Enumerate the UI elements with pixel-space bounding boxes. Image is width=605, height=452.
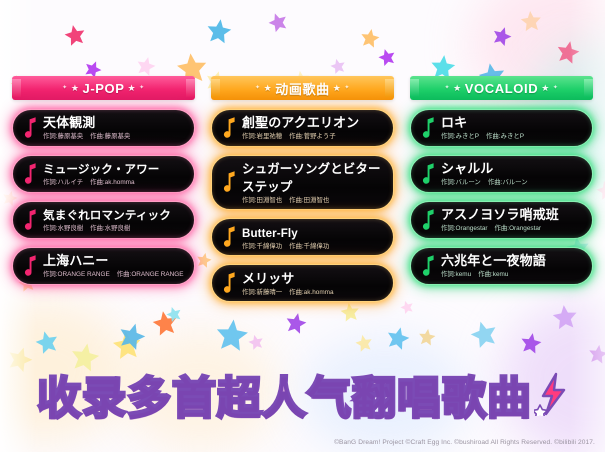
song-card[interactable]: 天体観測作詞:藤原基央作曲:藤原基央	[12, 109, 195, 147]
music-credit: 作曲:菅野よう子	[289, 133, 336, 140]
copyright-text: ©BanG Dream! Project ©Craft Egg Inc. ©bu…	[334, 439, 595, 446]
music-credit: 作曲:ORANGE RANGE	[117, 271, 184, 278]
category-label: J-POP	[82, 81, 124, 96]
song-title: ロキ	[441, 115, 467, 130]
song-text: シャルル作詞:バルーン作曲:バルーン	[441, 160, 583, 186]
ribbon-tail-right	[385, 79, 394, 97]
lyrics-credit: 作詞:千綿偉功	[242, 243, 282, 250]
lightning-note-icon	[534, 372, 568, 416]
song-credits: 作詞:水野良樹作曲:水野良樹	[43, 225, 185, 232]
lyrics-credit: 作詞:岩里祐穂	[242, 133, 282, 140]
category-label-wrap: ✦★动画歌曲★✦	[255, 79, 350, 98]
song-credits: 作詞:Orangestar作曲:Orangestar	[441, 225, 583, 232]
music-note-icon	[421, 116, 437, 140]
music-credit: 作曲:田淵智也	[289, 197, 329, 204]
song-text: ロキ作詞:みきとP作曲:みきとP	[441, 114, 583, 140]
song-card[interactable]: ミュージック・アワー作詞:ハルイチ作曲:ak.homma	[12, 155, 195, 193]
song-card[interactable]: 上海ハニー作詞:ORANGE RANGE作曲:ORANGE RANGE	[12, 247, 195, 285]
category-header-vocaloid: ✦★VOCALOID★✦	[410, 76, 593, 100]
music-note-icon	[421, 254, 437, 278]
headline-banner: 收录多首超人气翻唱歌曲	[0, 366, 605, 422]
star-icon: ★	[128, 84, 137, 93]
song-text: 天体観測作詞:藤原基央作曲:藤原基央	[43, 114, 185, 140]
song-title: 天体観測	[43, 115, 95, 130]
song-title: シュガーソングとビターステップ	[242, 162, 381, 194]
sparkle-icon: ✦	[553, 85, 559, 91]
lyrics-credit: 作詞:みきとP	[441, 133, 479, 140]
category-label-wrap: ✦★VOCALOID★✦	[444, 81, 558, 96]
music-credit: 作曲:藤原基央	[90, 133, 130, 140]
music-credit: 作曲:千綿偉功	[289, 243, 329, 250]
star-icon: ★	[453, 84, 462, 93]
song-text: アスノヨソラ哨戒班作詞:Orangestar作曲:Orangestar	[441, 206, 583, 232]
music-note-icon	[23, 208, 39, 232]
sparkle-icon: ✦	[444, 85, 450, 91]
lyrics-credit: 作詞:新藤晴一	[242, 289, 282, 296]
song-credits: 作詞:藤原基央作曲:藤原基央	[43, 133, 185, 140]
ribbon-tail-right	[186, 79, 195, 97]
song-card[interactable]: 気まぐれロマンティック作詞:水野良樹作曲:水野良樹	[12, 201, 195, 239]
ribbon-tail-left	[211, 79, 220, 97]
lyrics-credit: 作詞:田淵智也	[242, 197, 282, 204]
song-credits: 作詞:岩里祐穂作曲:菅野よう子	[242, 133, 384, 140]
music-credit: 作曲:水野良樹	[90, 225, 130, 232]
song-text: メリッサ作詞:新藤晴一作曲:ak.homma	[242, 270, 384, 296]
lyrics-credit: 作詞:藤原基央	[43, 133, 83, 140]
song-title: Butter-Fly	[242, 227, 298, 240]
ribbon-tail-left	[410, 79, 419, 97]
music-note-icon	[23, 116, 39, 140]
song-card[interactable]: メリッサ作詞:新藤晴一作曲:ak.homma	[211, 264, 394, 302]
category-column-vocaloid: ✦★VOCALOID★✦ロキ作詞:みきとP作曲:みきとPシャルル作詞:バルーン作…	[410, 76, 593, 285]
lyrics-credit: 作詞:水野良樹	[43, 225, 83, 232]
sparkle-icon: ✦	[344, 85, 350, 91]
song-card[interactable]: アスノヨソラ哨戒班作詞:Orangestar作曲:Orangestar	[410, 201, 593, 239]
song-list-vocaloid: ロキ作詞:みきとP作曲:みきとPシャルル作詞:バルーン作曲:バルーンアスノヨソラ…	[410, 109, 593, 285]
star-icon: ★	[71, 84, 80, 93]
category-label-wrap: ✦★J-POP★✦	[62, 81, 145, 96]
music-note-icon	[222, 116, 238, 140]
lyrics-credit: 作詞:kemu	[441, 271, 471, 278]
music-credit: 作曲:Orangestar	[495, 225, 542, 232]
song-title: ミュージック・アワー	[43, 163, 159, 176]
song-title: シャルル	[441, 161, 493, 176]
song-text: 創聖のアクエリオン作詞:岩里祐穂作曲:菅野よう子	[242, 114, 384, 140]
category-label: VOCALOID	[465, 81, 538, 96]
ribbon-tail-left	[12, 79, 21, 97]
lyrics-credit: 作詞:バルーン	[441, 179, 481, 186]
star-icon: ★	[541, 84, 550, 93]
sparkle-icon: ✦	[255, 85, 261, 91]
music-note-icon	[222, 225, 238, 249]
song-text: 気まぐれロマンティック作詞:水野良樹作曲:水野良樹	[43, 206, 185, 232]
song-text: ミュージック・アワー作詞:ハルイチ作曲:ak.homma	[43, 160, 185, 186]
music-credit: 作曲:ak.homma	[90, 179, 134, 186]
category-column-jpop: ✦★J-POP★✦天体観測作詞:藤原基央作曲:藤原基央ミュージック・アワー作詞:…	[12, 76, 195, 285]
song-credits: 作詞:新藤晴一作曲:ak.homma	[242, 289, 384, 296]
sparkle-icon: ✦	[139, 85, 145, 91]
song-card[interactable]: シュガーソングとビターステップ作詞:田淵智也作曲:田淵智也	[211, 155, 394, 210]
headline-text: 收录多首超人气翻唱歌曲	[37, 362, 532, 426]
category-header-anime: ✦★动画歌曲★✦	[211, 76, 394, 100]
song-credits: 作詞:バルーン作曲:バルーン	[441, 179, 583, 186]
song-credits: 作詞:みきとP作曲:みきとP	[441, 133, 583, 140]
music-credit: 作曲:ak.homma	[289, 289, 333, 296]
song-text: 上海ハニー作詞:ORANGE RANGE作曲:ORANGE RANGE	[43, 252, 185, 278]
song-credits: 作詞:ORANGE RANGE作曲:ORANGE RANGE	[43, 271, 185, 278]
song-credits: 作詞:ハルイチ作曲:ak.homma	[43, 179, 185, 186]
lyrics-credit: 作詞:ハルイチ	[43, 179, 83, 186]
song-text: Butter-Fly作詞:千綿偉功作曲:千綿偉功	[242, 224, 384, 250]
song-text: 六兆年と一夜物語作詞:kemu作曲:kemu	[441, 252, 583, 278]
song-card[interactable]: シャルル作詞:バルーン作曲:バルーン	[410, 155, 593, 193]
music-note-icon	[421, 162, 437, 186]
song-credits: 作詞:kemu作曲:kemu	[441, 271, 583, 278]
star-icon: ★	[264, 84, 273, 93]
song-credits: 作詞:田淵智也作曲:田淵智也	[242, 197, 384, 204]
song-title: 創聖のアクエリオン	[242, 115, 359, 130]
music-credit: 作曲:みきとP	[486, 133, 524, 140]
category-column-anime: ✦★动画歌曲★✦創聖のアクエリオン作詞:岩里祐穂作曲:菅野よう子シュガーソングと…	[211, 76, 394, 302]
category-header-jpop: ✦★J-POP★✦	[12, 76, 195, 100]
song-card[interactable]: ロキ作詞:みきとP作曲:みきとP	[410, 109, 593, 147]
promo-screen: ✦★J-POP★✦天体観測作詞:藤原基央作曲:藤原基央ミュージック・アワー作詞:…	[0, 0, 605, 452]
ribbon-tail-right	[584, 79, 593, 97]
music-note-icon	[23, 162, 39, 186]
music-note-icon	[421, 208, 437, 232]
lyrics-credit: 作詞:Orangestar	[441, 225, 488, 232]
music-credit: 作曲:バルーン	[488, 179, 528, 186]
song-list-anime: 創聖のアクエリオン作詞:岩里祐穂作曲:菅野よう子シュガーソングとビターステップ作…	[211, 109, 394, 302]
song-title: アスノヨソラ哨戒班	[441, 207, 559, 222]
sparkle-icon: ✦	[62, 85, 68, 91]
lyrics-credit: 作詞:ORANGE RANGE	[43, 271, 110, 278]
song-title: 気まぐれロマンティック	[43, 209, 171, 222]
song-card[interactable]: 創聖のアクエリオン作詞:岩里祐穂作曲:菅野よう子	[211, 109, 394, 147]
song-title: メリッサ	[242, 271, 294, 286]
song-title: 上海ハニー	[43, 253, 109, 268]
music-note-icon	[222, 170, 238, 194]
song-card[interactable]: Butter-Fly作詞:千綿偉功作曲:千綿偉功	[211, 218, 394, 256]
song-card[interactable]: 六兆年と一夜物語作詞:kemu作曲:kemu	[410, 247, 593, 285]
music-note-icon	[23, 254, 39, 278]
song-list-jpop: 天体観測作詞:藤原基央作曲:藤原基央ミュージック・アワー作詞:ハルイチ作曲:ak…	[12, 109, 195, 285]
song-credits: 作詞:千綿偉功作曲:千綿偉功	[242, 243, 384, 250]
music-note-icon	[222, 271, 238, 295]
music-credit: 作曲:kemu	[478, 271, 508, 278]
song-title: 六兆年と一夜物語	[441, 253, 546, 268]
star-icon: ★	[333, 84, 342, 93]
song-text: シュガーソングとビターステップ作詞:田淵智也作曲:田淵智也	[242, 160, 384, 204]
category-label: 动画歌曲	[275, 79, 329, 98]
